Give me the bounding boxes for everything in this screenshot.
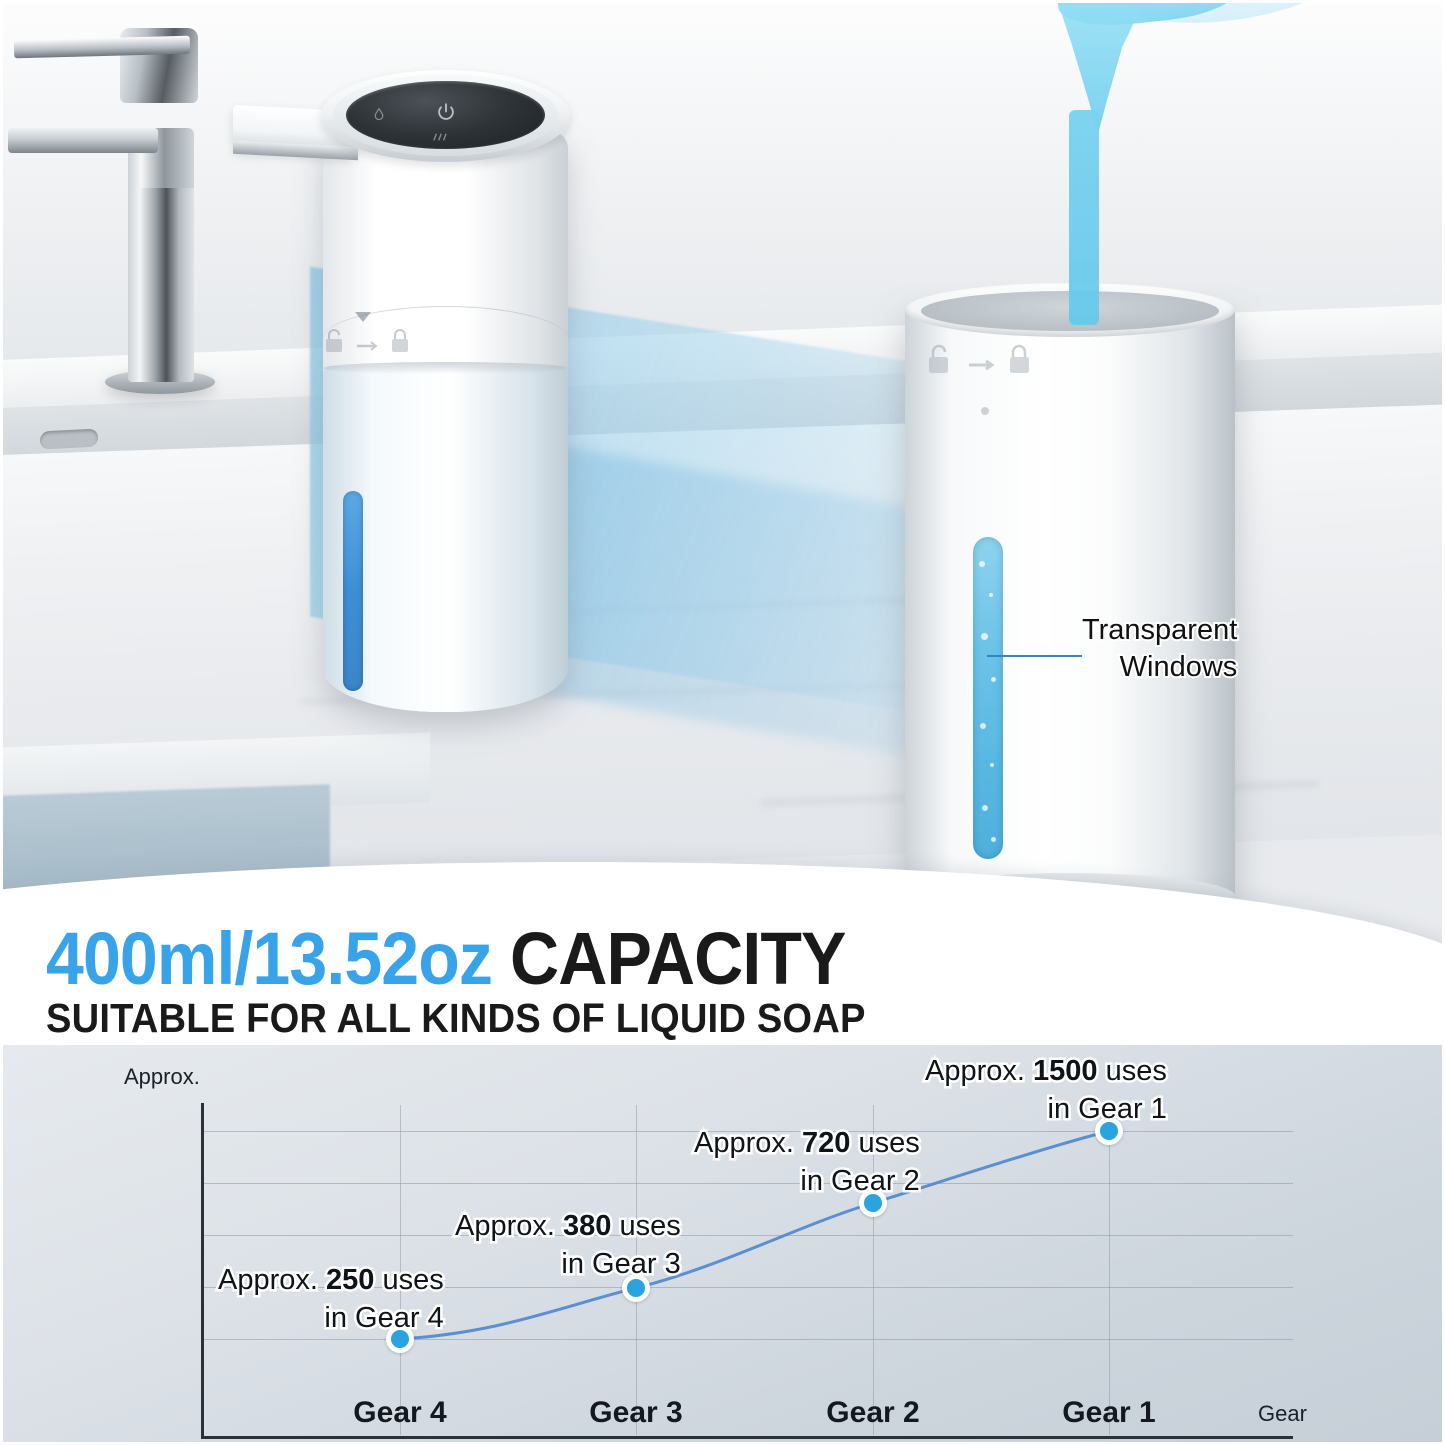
annotation-prefix: Approx. <box>694 1127 802 1159</box>
annotation-suffix: uses <box>611 1210 680 1242</box>
chart-plot-area <box>0 1045 1445 1445</box>
dispenser-touch-panel[interactable] <box>346 81 545 149</box>
y-axis-label: Approx. <box>124 1064 200 1090</box>
x-tick-gear-2: Gear 2 <box>773 1396 973 1430</box>
sink-overflow-drain <box>40 428 98 449</box>
tank-lock-indicators <box>925 343 1055 379</box>
transparent-windows-callout: Transparent Windows <box>1082 612 1237 686</box>
series-line <box>0 1045 1445 1445</box>
droplet-icon <box>372 107 386 121</box>
faucet-body <box>128 170 194 382</box>
x-tick-gear-1: Gear 1 <box>1009 1396 1209 1430</box>
annotation-gear-1: Approx. 1500 uses in Gear 1 <box>925 1053 1167 1128</box>
callout-line-1: Transparent <box>1082 612 1237 649</box>
annotation-prefix: Approx. <box>218 1264 326 1296</box>
soap-dispenser-tank-open <box>905 275 1235 915</box>
page-subtitle: SUITABLE FOR ALL KINDS OF LIQUID SOAP <box>46 995 1162 1042</box>
annotation-subline: in Gear 1 <box>925 1091 1167 1129</box>
uses-per-gear-chart: 500 400 300 200 100 <box>0 1045 1445 1445</box>
tank-vent-dot <box>981 407 989 415</box>
annotation-value: 1500 <box>1033 1055 1098 1087</box>
x-tick-gear-3: Gear 3 <box>536 1396 736 1430</box>
annotation-value: 250 <box>326 1264 374 1296</box>
power-icon[interactable] <box>435 101 457 123</box>
annotation-gear-3: Approx. 380 uses in Gear 3 <box>455 1208 681 1283</box>
annotation-prefix: Approx. <box>455 1210 563 1242</box>
foam-icon <box>432 131 450 143</box>
product-infographic: Transparent Windows 400ml/13.52oz CAPACI… <box>0 0 1445 1445</box>
dispenser-lock-indicators <box>323 326 453 370</box>
pouring-liquid <box>1047 0 1117 320</box>
annotation-gear-2: Approx. 720 uses in Gear 2 <box>694 1125 920 1200</box>
soap-dispenser-assembled <box>313 36 578 716</box>
triangle-marker-icon <box>355 312 371 322</box>
annotation-suffix: uses <box>374 1264 443 1296</box>
page-title: 400ml/13.52oz CAPACITY <box>46 916 1150 1001</box>
headline-capacity-word: CAPACITY <box>492 917 846 1000</box>
callout-leader-line <box>987 655 1082 657</box>
faucet-spout <box>8 128 158 153</box>
annotation-subline: in Gear 3 <box>455 1246 681 1284</box>
annotation-gear-4: Approx. 250 uses in Gear 4 <box>218 1262 444 1337</box>
tank-body <box>905 303 1235 915</box>
callout-line-2: Windows <box>1082 649 1237 686</box>
transparent-window-left <box>343 491 363 691</box>
faucet <box>0 0 320 420</box>
x-tick-gear-4: Gear 4 <box>300 1396 500 1430</box>
annotation-value: 380 <box>563 1210 611 1242</box>
annotation-value: 720 <box>802 1127 850 1159</box>
annotation-prefix: Approx. <box>925 1055 1033 1087</box>
x-axis-label: Gear <box>1258 1401 1307 1427</box>
annotation-suffix: uses <box>1098 1055 1167 1087</box>
headline-capacity-value: 400ml/13.52oz <box>46 917 492 1000</box>
transparent-window-right <box>973 537 1003 859</box>
annotation-subline: in Gear 4 <box>218 1300 444 1338</box>
annotation-suffix: uses <box>850 1127 919 1159</box>
liquid-stream <box>1069 110 1099 325</box>
annotation-subline: in Gear 2 <box>694 1163 920 1201</box>
product-photo: Transparent Windows <box>0 0 1445 965</box>
